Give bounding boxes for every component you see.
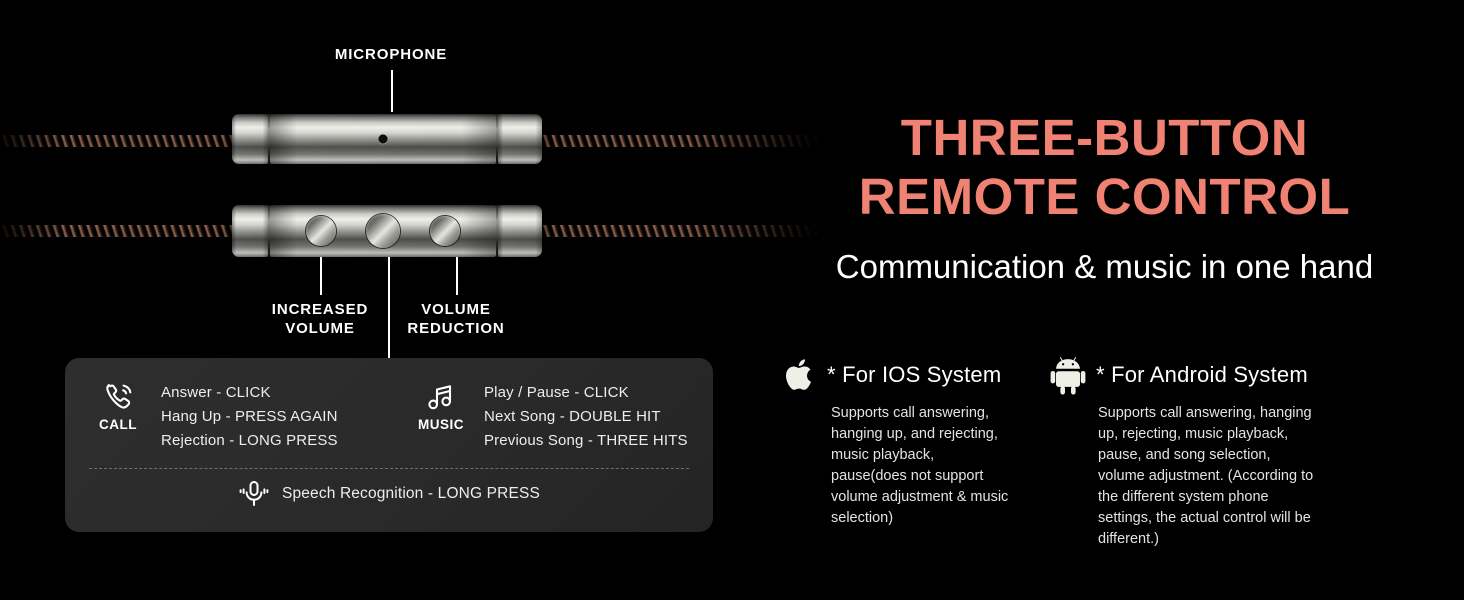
marketing-copy-panel: THREE-BUTTON REMOTE CONTROL Communicatio… <box>745 0 1464 600</box>
music-instruction-item: Play / Pause - CLICK <box>484 381 688 405</box>
microphone-voice-icon <box>238 478 270 510</box>
cable-left-top <box>0 135 244 147</box>
music-instruction-item: Next Song - DOUBLE HIT <box>484 405 688 429</box>
three-button-remote <box>232 205 542 257</box>
call-instruction-item: Rejection - LONG PRESS <box>161 429 338 453</box>
speech-recognition-row: Speech Recognition - LONG PRESS <box>65 478 713 510</box>
os-column-ios: * For IOS System Supports call answering… <box>783 355 1053 550</box>
android-description: Supports call answering, hanging up, rej… <box>1050 403 1318 550</box>
call-instruction-item: Answer - CLICK <box>161 381 338 405</box>
headline-line-2: REMOTE CONTROL <box>745 167 1464 226</box>
instruction-group-music: MUSIC Play / Pause - CLICK Next Song - D… <box>390 380 688 453</box>
product-illustration-panel: MICROPHONE INCREASED VOLUME VOLUME REDUC… <box>0 0 780 600</box>
os-column-android: * For Android System Supports call answe… <box>1050 355 1340 550</box>
music-badge-label: MUSIC <box>418 417 464 432</box>
page-title: THREE-BUTTON REMOTE CONTROL <box>745 108 1464 226</box>
cable-left-bottom <box>0 225 244 237</box>
music-instruction-item: Previous Song - THREE HITS <box>484 429 688 453</box>
infographic-root: MICROPHONE INCREASED VOLUME VOLUME REDUC… <box>0 0 1464 600</box>
callout-line-volume-reduction <box>456 257 458 295</box>
call-badge-label: CALL <box>99 417 137 432</box>
phone-call-icon <box>101 380 135 414</box>
callout-volume-reduction: VOLUME REDUCTION <box>376 300 536 338</box>
call-instruction-list: Answer - CLICK Hang Up - PRESS AGAIN Rej… <box>147 380 338 453</box>
card-divider <box>89 468 689 469</box>
android-title: * For Android System <box>1096 362 1308 388</box>
instruction-group-call: CALL Answer - CLICK Hang Up - PRESS AGAI… <box>65 380 390 453</box>
callout-microphone: MICROPHONE <box>291 45 491 64</box>
music-badge: MUSIC <box>412 380 470 432</box>
callout-line-increased-volume <box>320 257 322 295</box>
subheadline: Communication & music in one hand <box>745 248 1464 286</box>
call-instruction-item: Hang Up - PRESS AGAIN <box>161 405 338 429</box>
android-icon <box>1050 355 1086 395</box>
multifunction-button[interactable] <box>366 214 400 248</box>
ios-description: Supports call answering, hanging up, and… <box>783 403 1011 529</box>
callout-line-microphone <box>391 70 393 112</box>
speech-recognition-text: Speech Recognition - LONG PRESS <box>282 485 540 503</box>
instruction-card-top: CALL Answer - CLICK Hang Up - PRESS AGAI… <box>65 358 713 453</box>
music-note-icon <box>424 380 458 414</box>
microphone-remote <box>232 114 542 164</box>
android-heading: * For Android System <box>1050 355 1340 395</box>
apple-icon <box>783 355 817 395</box>
os-support-columns: * For IOS System Supports call answering… <box>745 355 1464 550</box>
microphone-hole <box>379 135 388 144</box>
music-instruction-list: Play / Pause - CLICK Next Song - DOUBLE … <box>470 380 688 453</box>
instruction-card: CALL Answer - CLICK Hang Up - PRESS AGAI… <box>65 358 713 532</box>
call-badge: CALL <box>89 380 147 432</box>
volume-down-button[interactable] <box>430 216 460 246</box>
ios-title: * For IOS System <box>827 362 1001 388</box>
ios-heading: * For IOS System <box>783 355 1053 395</box>
headline-line-1: THREE-BUTTON <box>745 108 1464 167</box>
volume-up-button[interactable] <box>306 216 336 246</box>
